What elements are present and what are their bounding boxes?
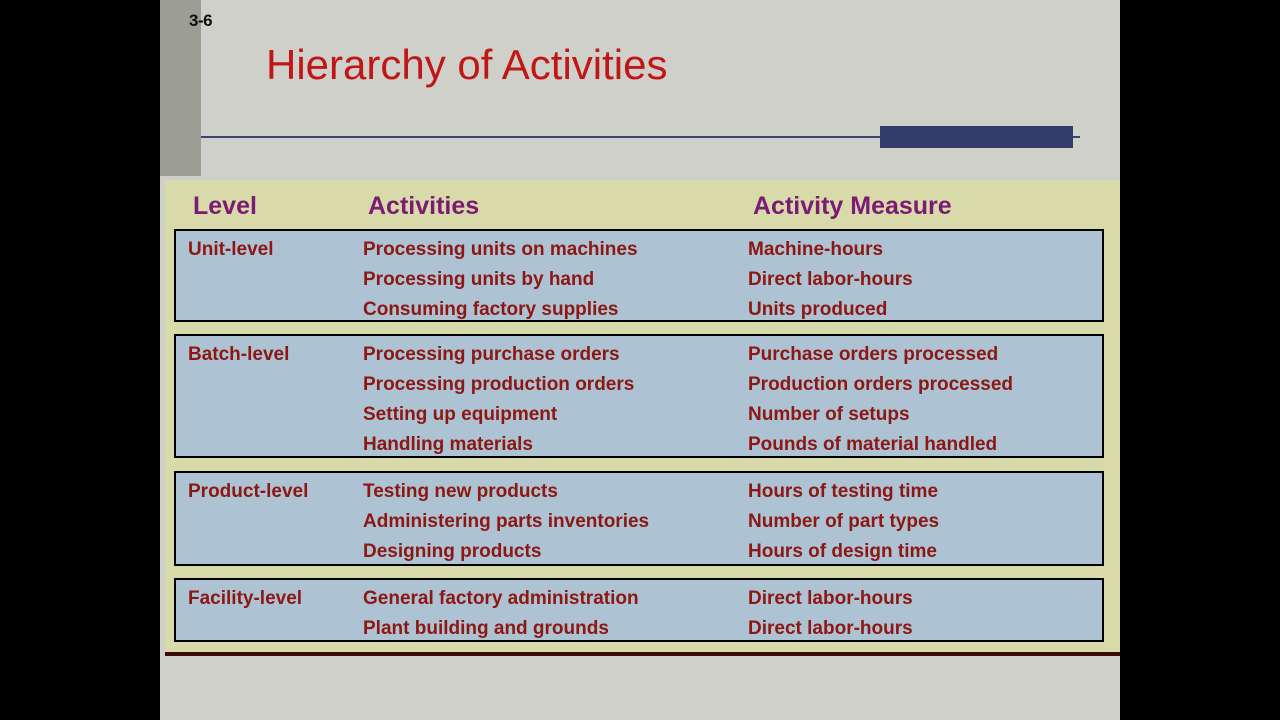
table-group-unit-level: Unit-level Processing units on machines …: [174, 229, 1104, 322]
table-row: Plant building and grounds Direct labor-…: [176, 615, 1102, 645]
cell-activity: Processing units by hand: [363, 269, 594, 291]
activity-hierarchy-panel: Level Activities Activity Measure Unit-l…: [165, 180, 1120, 656]
cell-measure: Number of setups: [748, 404, 910, 426]
cell-activity: Handling materials: [363, 434, 533, 456]
cell-activity: Consuming factory supplies: [363, 299, 618, 321]
cell-measure: Direct labor-hours: [748, 618, 913, 640]
cell-measure: Direct labor-hours: [748, 269, 913, 291]
cell-activity: Plant building and grounds: [363, 618, 609, 640]
cell-activity: Testing new products: [363, 481, 558, 503]
page-title: Hierarchy of Activities: [266, 41, 667, 89]
table-group-batch-level: Batch-level Processing purchase orders P…: [174, 334, 1104, 458]
table-group-product-level: Product-level Testing new products Hours…: [174, 471, 1104, 566]
table-row: Product-level Testing new products Hours…: [176, 478, 1102, 508]
cell-activity: General factory administration: [363, 588, 639, 610]
table-row: Facility-level General factory administr…: [176, 585, 1102, 615]
cell-measure: Hours of design time: [748, 541, 937, 563]
table-group-facility-level: Facility-level General factory administr…: [174, 578, 1104, 642]
cell-level: Product-level: [188, 481, 308, 503]
cell-measure: Machine-hours: [748, 239, 883, 261]
cell-level: Facility-level: [188, 588, 302, 610]
title-accent-block: [880, 126, 1073, 148]
table-row: Processing units by hand Direct labor-ho…: [176, 266, 1102, 296]
slide-number: 3-6: [189, 11, 212, 31]
slide-header: 3-6 Hierarchy of Activities: [160, 0, 1120, 176]
cell-measure: Hours of testing time: [748, 481, 938, 503]
cell-activity: Processing units on machines: [363, 239, 638, 261]
column-header-activities: Activities: [368, 192, 479, 221]
table-row: Designing products Hours of design time: [176, 538, 1102, 568]
cell-level: Unit-level: [188, 239, 274, 261]
cell-measure: Production orders processed: [748, 374, 1013, 396]
table-row: Setting up equipment Number of setups: [176, 401, 1102, 431]
cell-activity: Processing purchase orders: [363, 344, 620, 366]
column-header-level: Level: [193, 192, 257, 221]
cell-measure: Pounds of material handled: [748, 434, 997, 456]
cell-activity: Designing products: [363, 541, 541, 563]
table-row: Processing production orders Production …: [176, 371, 1102, 401]
table-row: Administering parts inventories Number o…: [176, 508, 1102, 538]
column-header-activity-measure: Activity Measure: [753, 192, 952, 221]
cell-measure: Direct labor-hours: [748, 588, 913, 610]
cell-activity: Administering parts inventories: [363, 511, 649, 533]
cell-measure: Purchase orders processed: [748, 344, 998, 366]
table-row: Batch-level Processing purchase orders P…: [176, 341, 1102, 371]
table-row: Unit-level Processing units on machines …: [176, 236, 1102, 266]
cell-measure: Units produced: [748, 299, 887, 321]
cell-level: Batch-level: [188, 344, 289, 366]
table-row: Handling materials Pounds of material ha…: [176, 431, 1102, 461]
presentation-slide: 3-6 Hierarchy of Activities Level Activi…: [160, 0, 1120, 720]
table-row: Consuming factory supplies Units produce…: [176, 296, 1102, 326]
table-column-headers: Level Activities Activity Measure: [165, 180, 1120, 229]
cell-measure: Number of part types: [748, 511, 939, 533]
cell-activity: Processing production orders: [363, 374, 634, 396]
cell-activity: Setting up equipment: [363, 404, 557, 426]
